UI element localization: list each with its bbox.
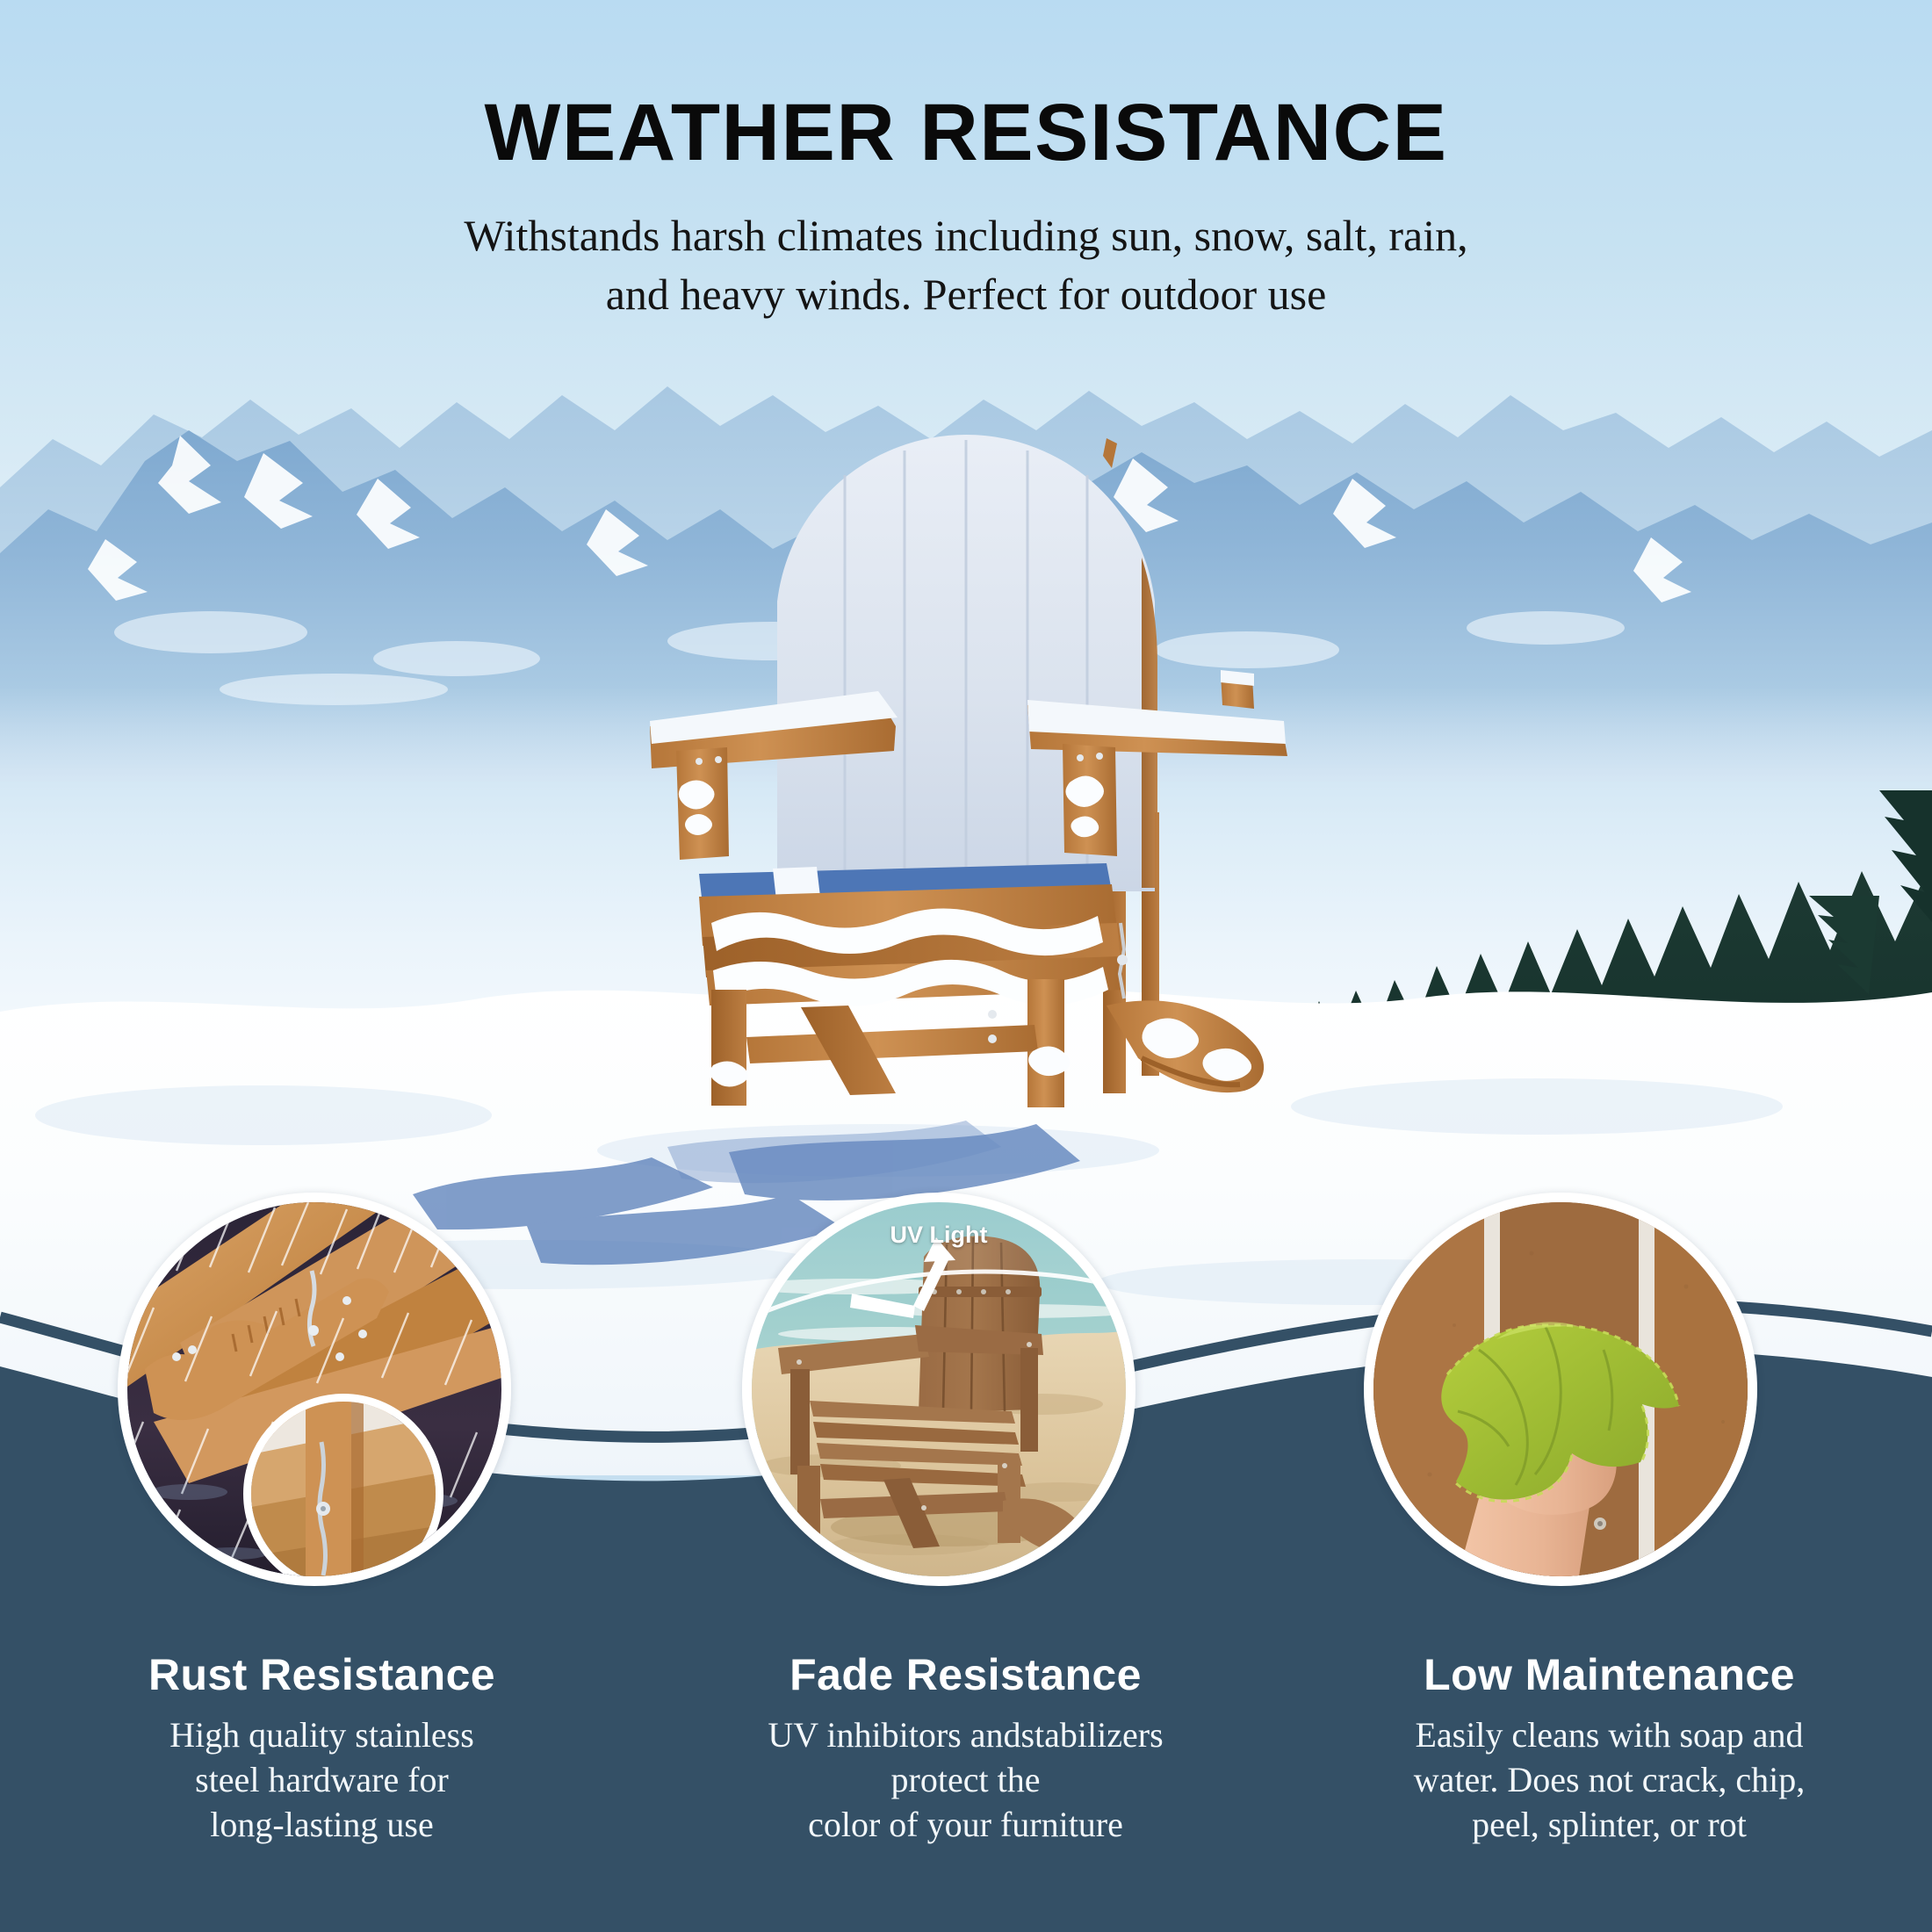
fade-resistance-photo (752, 1202, 1126, 1576)
feature-text-low-maintenance: Low Maintenance Easily cleans with soap … (1287, 1651, 1931, 1847)
feature-title-fade-resistance: Fade Resistance (665, 1651, 1266, 1699)
feature-description-low-maintenance: Easily cleans with soap and water. Does … (1308, 1713, 1910, 1847)
feature-description-fade-resistance: UV inhibitors andstabilizers protect the… (665, 1713, 1266, 1847)
feature-title-low-maintenance: Low Maintenance (1308, 1651, 1910, 1699)
feature-image-fade-resistance[interactable]: UV Light (742, 1193, 1135, 1586)
weather-resistance-infographic: WEATHER RESISTANCE Withstands harsh clim… (0, 0, 1932, 1932)
low-desc-line-3: peel, splinter, or rot (1472, 1805, 1747, 1844)
fade-desc-line-1: UV inhibitors andstabilizers (768, 1715, 1163, 1755)
feature-text-rust-resistance: Rust Resistance High quality stainless s… (0, 1651, 644, 1847)
page-subtitle: Withstands harsh climates including sun,… (0, 173, 1932, 323)
low-desc-line-1: Easily cleans with soap and (1415, 1715, 1803, 1755)
rust-desc-line-2: steel hardware for (195, 1760, 449, 1799)
feature-text-row: Rust Resistance High quality stainless s… (0, 1651, 1932, 1847)
feature-description-rust-resistance: High quality stainless steel hardware fo… (21, 1713, 623, 1847)
rust-desc-line-1: High quality stainless (169, 1715, 474, 1755)
snow-covered-adirondack-chair (615, 400, 1317, 1128)
feature-title-rust-resistance: Rust Resistance (21, 1651, 623, 1699)
fade-desc-line-2: protect the (891, 1760, 1041, 1799)
rust-desc-line-3: long-lasting use (210, 1805, 433, 1844)
feature-image-rust-resistance[interactable] (118, 1193, 511, 1586)
header-block: WEATHER RESISTANCE Withstands harsh clim… (0, 0, 1932, 323)
feature-text-fade-resistance: Fade Resistance UV inhibitors andstabili… (644, 1651, 1287, 1847)
subtitle-line-1: Withstands harsh climates including sun,… (464, 211, 1467, 260)
low-desc-line-2: water. Does not crack, chip, (1414, 1760, 1805, 1799)
fade-desc-line-3: color of your furniture (808, 1805, 1123, 1844)
uv-light-annotation: UV Light (890, 1222, 988, 1249)
page-title: WEATHER RESISTANCE (0, 0, 1932, 173)
feature-image-low-maintenance[interactable] (1364, 1193, 1757, 1586)
subtitle-line-2: and heavy winds. Perfect for outdoor use (606, 270, 1327, 319)
rust-resistance-inset-closeup (243, 1394, 443, 1586)
low-maintenance-photo (1373, 1202, 1748, 1576)
